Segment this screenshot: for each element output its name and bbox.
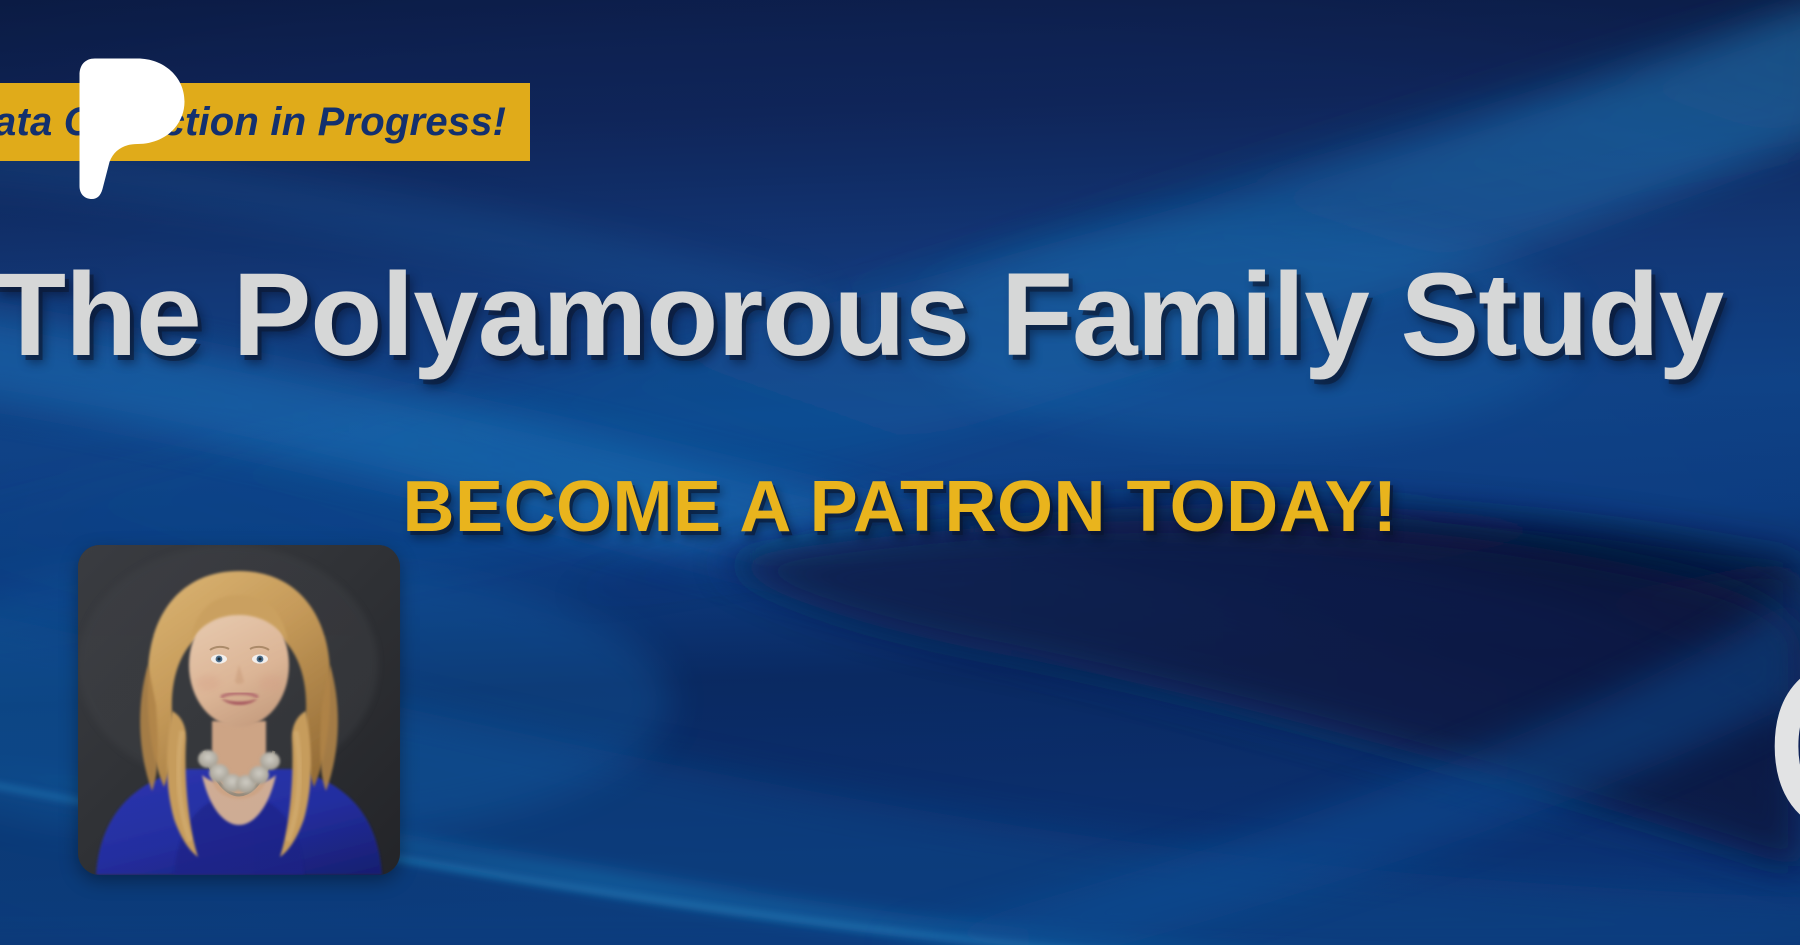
patreon-logo-icon: [66, 55, 191, 200]
call-to-action-subtitle: BECOME A PATRON TODAY!: [0, 466, 1800, 548]
creator-portrait: [78, 545, 400, 875]
edge-clipped-glyph-text: C: [1762, 658, 1800, 838]
edge-clipped-glyph: C: [1762, 658, 1800, 838]
banner-canvas: ata Collection in Progress! The Polyamor…: [0, 0, 1800, 945]
creator-portrait-image: [78, 545, 400, 875]
page-title: The Polyamorous Family Study: [0, 254, 1800, 377]
